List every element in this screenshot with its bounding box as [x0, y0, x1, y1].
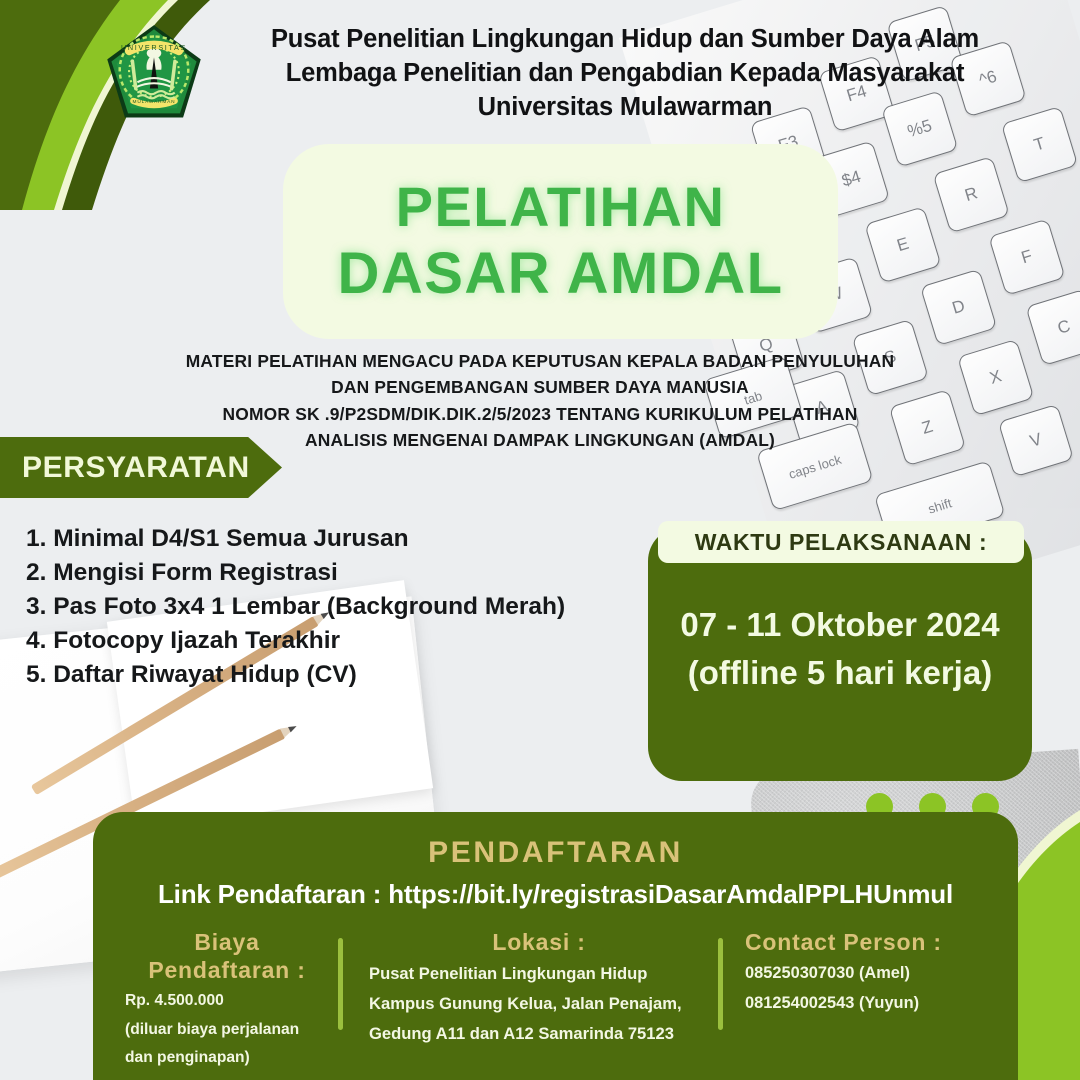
registration-title: PENDAFTARAN [93, 836, 1018, 870]
list-item: 3. Pas Foto 3x4 1 Lembar (Background Mer… [26, 590, 626, 624]
svg-text:UNIVERSITAS: UNIVERSITAS [121, 43, 187, 52]
svg-text:MULAWARMAN: MULAWARMAN [133, 99, 176, 105]
fee-column: Biaya Pendaftaran : Rp. 4.500.000 (dilua… [93, 928, 343, 1070]
keyboard-key: D [920, 269, 997, 346]
list-item: 5. Daftar Riwayat Hidup (CV) [26, 658, 626, 692]
universitas-mulawarman-logo: UNIVERSITAS MULAWARMAN [102, 22, 206, 130]
location-line-3: Gedung A11 dan A12 Samarinda 75123 [369, 1021, 709, 1046]
schedule-label-chip: WAKTU PELAKSANAAN : [658, 521, 1024, 563]
fee-note-line-2: dan penginapan) [125, 1046, 329, 1070]
schedule-body: 07 - 11 Oktober 2024 (offline 5 hari ker… [648, 600, 1032, 696]
title-line-1: PELATIHAN [396, 175, 726, 239]
list-item: 4. Fotocopy Ijazah Terakhir [26, 624, 626, 658]
registration-panel: PENDAFTARAN Link Pendaftaran : https://b… [93, 812, 1018, 1080]
location-heading: Lokasi : [369, 928, 709, 956]
schedule-label: WAKTU PELAKSANAAN : [695, 529, 988, 556]
contact-heading: Contact Person : [745, 928, 1004, 956]
requirements-list: 1. Minimal D4/S1 Semua Jurusan 2. Mengis… [26, 522, 626, 692]
org-line-2: Lembaga Penelitian dan Pengabdian Kepada… [220, 56, 1030, 90]
list-item: 2. Mengisi Form Registrasi [26, 556, 626, 590]
keyboard-key: E [864, 206, 941, 283]
location-line-2: Kampus Gunung Kelua, Jalan Penajam, [369, 991, 709, 1016]
location-line-1: Pusat Penelitian Lingkungan Hidup [369, 961, 709, 986]
subtitle-line-2: DAN PENGEMBANGAN SUMBER DAYA MANUSIA [90, 374, 990, 400]
list-item: 1. Minimal D4/S1 Semua Jurusan [26, 522, 626, 556]
schedule-date: 07 - 11 Oktober 2024 [648, 600, 1032, 650]
registration-columns: Biaya Pendaftaran : Rp. 4.500.000 (dilua… [93, 928, 1018, 1070]
fee-heading-line-2: Pendaftaran : [125, 956, 329, 984]
contact-line-2[interactable]: 081254002543 (Yuyun) [745, 991, 1004, 1016]
poster-canvas: F2 F3 F4 F5 @2 #3 $4 %5 ^6 Q W E R T A S… [0, 0, 1080, 1080]
registration-link[interactable]: Link Pendaftaran : https://bit.ly/regist… [93, 879, 1018, 910]
contact-line-1[interactable]: 085250307030 (Amel) [745, 961, 1004, 986]
keyboard-key: C [1025, 289, 1080, 366]
poster-header: UNIVERSITAS MULAWARMAN Pusat Penelitian … [0, 18, 1080, 130]
main-title-card: PELATIHAN DASAR AMDAL [283, 144, 838, 339]
schedule-note: (offline 5 hari kerja) [648, 650, 1032, 696]
location-column: Lokasi : Pusat Penelitian Lingkungan Hid… [343, 928, 723, 1070]
requirements-banner: PERSYARATAN [0, 437, 282, 498]
keyboard-key: F [988, 218, 1065, 295]
fee-heading-line-1: Biaya [125, 928, 329, 956]
org-line-1: Pusat Penelitian Lingkungan Hidup dan Su… [220, 22, 1030, 56]
requirements-banner-label: PERSYARATAN [22, 451, 250, 485]
title-line-2: DASAR AMDAL [337, 241, 783, 308]
org-line-3: Universitas Mulawarman [220, 90, 1030, 124]
organization-name-block: Pusat Penelitian Lingkungan Hidup dan Su… [220, 18, 1030, 124]
keyboard-key: V [998, 404, 1074, 478]
contact-column: Contact Person : 085250307030 (Amel) 081… [723, 928, 1018, 1070]
keyboard-key: R [933, 156, 1010, 233]
fee-amount: Rp. 4.500.000 [125, 989, 329, 1013]
subtitle-line-1: MATERI PELATIHAN MENGACU PADA KEPUTUSAN … [90, 348, 990, 374]
subtitle-line-3: NOMOR SK .9/P2SDM/DIK.DIK.2/5/2023 TENTA… [90, 401, 990, 427]
fee-note-line-1: (diluar biaya perjalanan [125, 1018, 329, 1042]
